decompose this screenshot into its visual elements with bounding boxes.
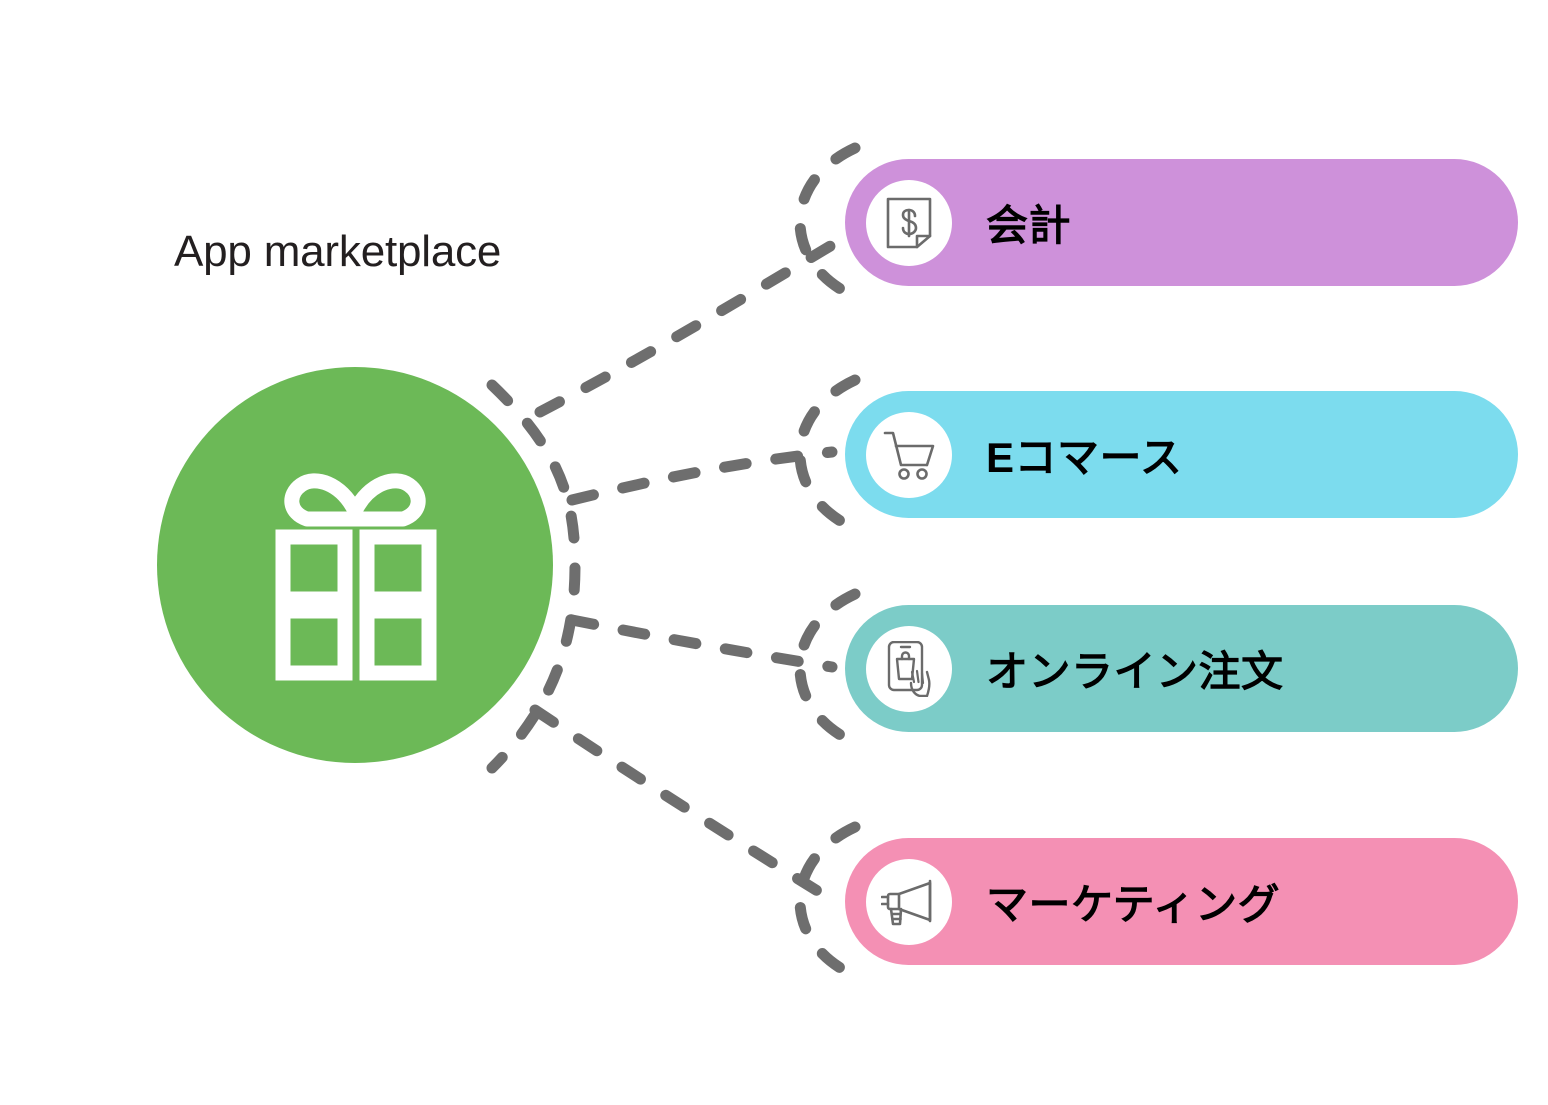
branch-label-marketing: マーケティング [986,871,1280,932]
connector-to-ecommerce [572,452,832,500]
connector-to-accounting [540,245,832,412]
connector-to-marketing [535,710,832,900]
connector-to-online-order [572,620,832,667]
gift-box-icon [255,449,455,681]
branch-label-ecommerce: Eコマース [986,424,1182,485]
icon-badge-marketing [866,859,952,945]
branch-node-online-order[interactable]: オンライン注文 [845,605,1518,732]
hub-node[interactable] [157,367,553,763]
icon-badge-ecommerce [866,412,952,498]
diagram-canvas: App marketplace [0,0,1548,1105]
branch-node-ecommerce[interactable]: Eコマース [845,391,1518,518]
invoice-dollar-icon [884,196,934,250]
branch-node-accounting[interactable]: 会計 [845,159,1518,286]
shopping-cart-icon [882,429,936,481]
branch-node-marketing[interactable]: マーケティング [845,838,1518,965]
megaphone-icon [881,877,937,927]
branch-label-online-order: オンライン注文 [986,638,1284,699]
diagram-title: App marketplace [174,228,501,276]
mobile-shopping-hand-icon [883,641,935,697]
icon-badge-online-order [866,626,952,712]
branch-label-accounting: 会計 [986,192,1071,253]
icon-badge-accounting [866,180,952,266]
